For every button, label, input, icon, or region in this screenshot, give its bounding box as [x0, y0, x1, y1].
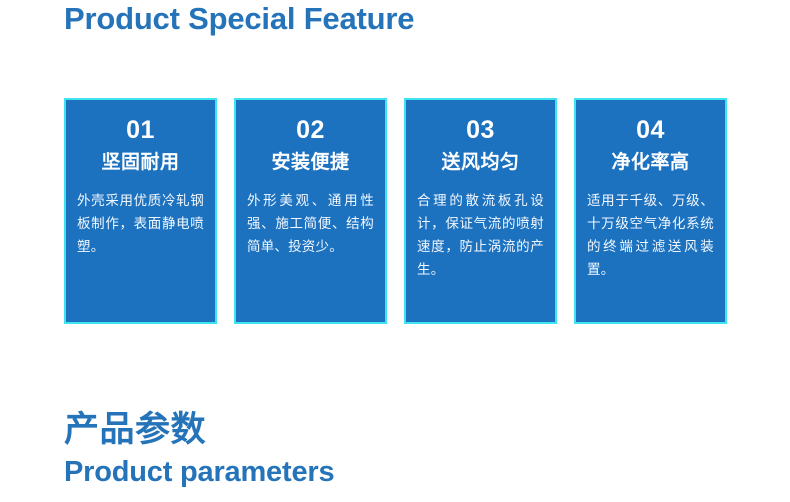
section-heading: 产品参数 Product parameters — [64, 408, 334, 490]
feature-card-title: 坚固耐用 — [77, 151, 204, 175]
feature-card-04: 04 净化率高 适用于千级、万级、十万级空气净化系统的终端过滤送风装置。 — [574, 98, 727, 324]
feature-card-description: 外形美观、通用性强、施工简便、结构简单、投资少。 — [247, 189, 374, 258]
feature-card-description: 合理的散流板孔设计，保证气流的喷射速度，防止涡流的产生。 — [417, 189, 544, 281]
feature-card-03: 03 送风均匀 合理的散流板孔设计，保证气流的喷射速度，防止涡流的产生。 — [404, 98, 557, 324]
feature-card-number: 02 — [247, 116, 374, 144]
feature-cards-row: 01 坚固耐用 外壳采用优质冷轧钢板制作，表面静电喷塑。 02 安装便捷 外形美… — [64, 98, 727, 324]
feature-card-title: 净化率高 — [587, 151, 714, 175]
feature-card-number: 01 — [77, 116, 204, 144]
feature-card-number: 04 — [587, 116, 714, 144]
product-feature-page: Product Special Feature 01 坚固耐用 外壳采用优质冷轧… — [0, 0, 790, 502]
section-heading-chinese: 产品参数 — [64, 408, 334, 452]
section-heading-english: Product parameters — [64, 454, 334, 490]
feature-card-01: 01 坚固耐用 外壳采用优质冷轧钢板制作，表面静电喷塑。 — [64, 98, 217, 324]
feature-card-number: 03 — [417, 116, 544, 144]
page-title: Product Special Feature — [64, 0, 414, 38]
feature-card-title: 安装便捷 — [247, 151, 374, 175]
feature-card-title: 送风均匀 — [417, 151, 544, 175]
feature-card-description: 适用于千级、万级、十万级空气净化系统的终端过滤送风装置。 — [587, 189, 714, 281]
feature-card-02: 02 安装便捷 外形美观、通用性强、施工简便、结构简单、投资少。 — [234, 98, 387, 324]
feature-card-description: 外壳采用优质冷轧钢板制作，表面静电喷塑。 — [77, 189, 204, 258]
